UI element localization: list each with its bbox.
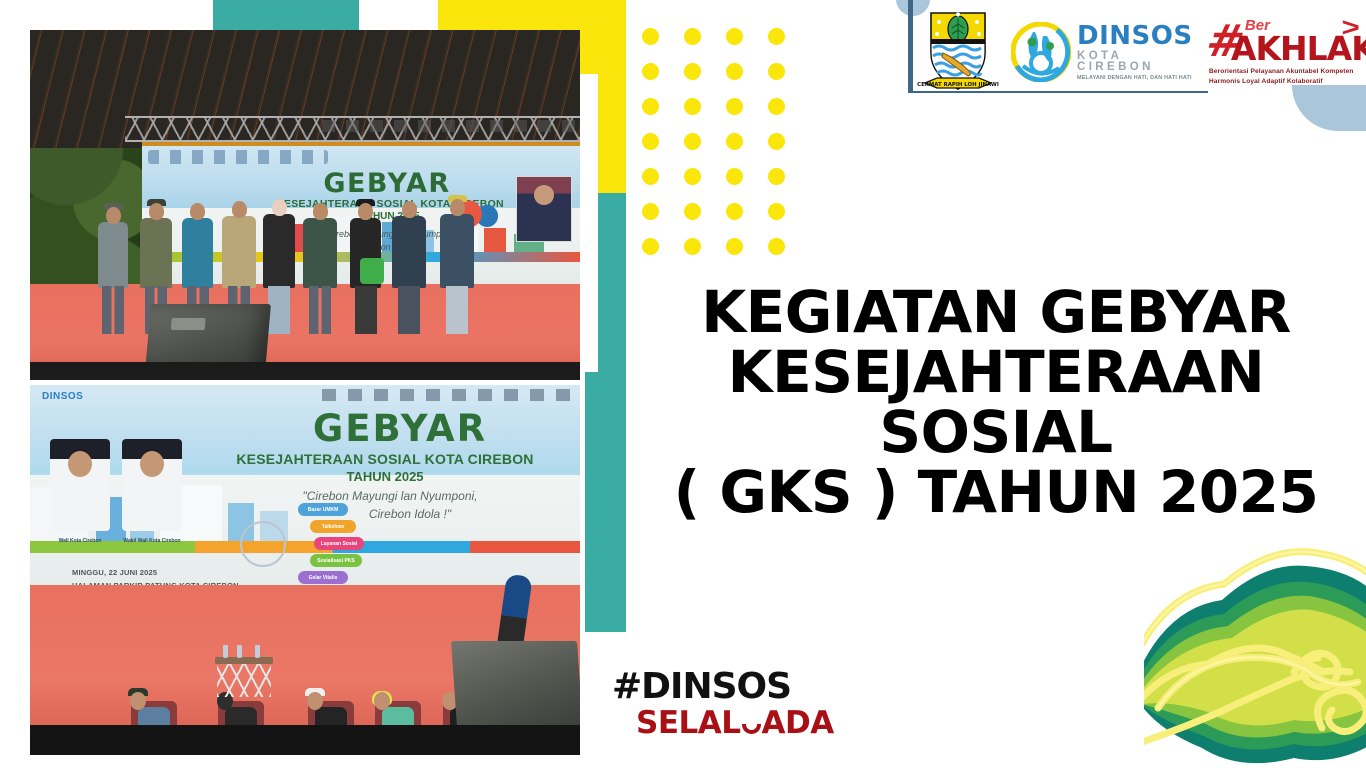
grid-dot [726,133,743,150]
photo2-panelist-head [307,692,323,710]
photo2-water-bottle [237,645,242,658]
photo2-table-top [215,657,273,664]
photo-group-on-stage: GEBYAR KESEJAHTERAAN SOSIAL KOTA CIREBON… [30,30,580,380]
photo2-table-legs [217,664,271,697]
grid-dot [726,28,743,45]
grid-dot [768,203,785,220]
photo2-diagram-node: Talkshow [310,520,356,533]
grid-dot [684,63,701,80]
photo2-banner-activity-diagram: Bazar UMKM Talkshow Layanan Sosial Sosia… [240,503,390,588]
photo1-person-head [232,201,247,218]
photo1-person [98,222,128,288]
photo2-banner-year: TAHUN 2025 [215,469,555,484]
grid-dot [768,28,785,45]
grid-dot [684,238,701,255]
photo1-person-head [358,203,373,220]
smile-u-icon [742,724,761,734]
hashtag-selalu-text: SELAL [636,705,741,741]
photo2-diagram-node: Gelar Vitalis [298,571,348,584]
hashtag-line-1: #DINSOS [612,668,834,706]
grid-dot [726,98,743,115]
photo2-diagram-circle [240,521,286,567]
photo2-banner-title: GEBYAR [285,407,515,450]
photo1-banner-portrait [516,176,572,242]
grid-dot [642,63,659,80]
grid-dot [642,133,659,150]
photo1-person [182,218,213,288]
grid-dot [684,203,701,220]
grid-dot [768,168,785,185]
photo2-stage-monitor-speaker [451,641,580,727]
hashtag-ada-text: ADA [762,705,834,741]
grid-dot [684,98,701,115]
photo2-banner-tagline-line1: "Cirebon Mayungi lan Nyumponi, [240,489,540,503]
photo2-diagram-node: Bazar UMKM [298,503,348,516]
photo2-diagram-node: Layanan Sosial [314,537,364,550]
mega-mendung-cloud-icon [1144,522,1366,768]
grid-dot [642,238,659,255]
photo1-tagline-line1: "Cirebon Mayungi lan Nyumponi, [324,229,455,239]
photo1-person-head [450,199,465,216]
photo1-person-legs [355,286,377,334]
grid-dot [726,63,743,80]
logo-row: CERMAT RAPIH LOH JINAWI [915,8,1360,96]
photo1-person-head [190,203,205,220]
grid-dot [642,28,659,45]
photo2-banner-date: MINGGU, 22 JUNI 2025 [72,568,157,577]
photo1-green-bag [360,258,384,284]
hashtag-line-2: SELALADA [636,706,834,740]
dinsos-tagline: MELAYANI DENGAN HATI, DAN HATI HATI [1077,76,1197,81]
photo1-banner-logo-row [148,150,328,164]
photo1-person [392,216,426,288]
dinsos-logo: DINSOS KOTA CIREBON MELAYANI DENGAN HATI… [1011,22,1197,82]
photo1-sponsor-row [322,120,580,132]
title-line-1: KEGIATAN GEBYAR [701,278,1291,346]
grid-dot [768,63,785,80]
grid-dot [768,133,785,150]
grid-dot [726,203,743,220]
lambang-kota-cirebon-icon: CERMAT RAPIH LOH JINAWI [915,9,1001,95]
title-line-2: KESEJAHTERAAN SOSIAL [728,338,1265,466]
dinsos-subtitle: KOTA CIREBON [1077,51,1197,74]
teal-strip-joint [585,372,626,398]
photo2-water-bottle [255,645,260,658]
berakhlak-logo: # Ber AKHLAK > Berorientasi Pelayanan Ak… [1207,12,1360,92]
emblem-motto-text: CERMAT RAPIH LOH JINAWI [917,82,999,88]
photo1-person-head [272,199,287,216]
page-title: KEGIATAN GEBYAR KESEJAHTERAAN SOSIAL ( G… [626,282,1366,522]
grid-dot [768,98,785,115]
photo2-banner-dinsos-logo: DINSOS [42,391,83,402]
chevron-right-icon: > [1341,12,1359,43]
grid-dot [684,133,701,150]
yellow-dot-grid [642,28,782,256]
photo2-banner-subtitle: KESEJAHTERAAN SOSIAL KOTA CIREBON [215,451,555,467]
photo2-leader-caption: Wakil Wali Kota Cirebon [116,538,188,544]
photo1-person-legs [398,286,420,334]
photo1-person-legs [102,286,124,334]
grid-dot [726,168,743,185]
photo1-person-head [149,203,164,220]
akhlak-values-line2: Harmonis Loyal Adaptif Kolaboratif [1209,78,1323,85]
slide-canvas: GEBYAR KESEJAHTERAAN SOSIAL KOTA CIREBON… [0,0,1366,768]
grid-dot [768,238,785,255]
photo2-panelist-head [130,692,146,710]
dinsos-hashtag-block: #DINSOS SELALADA [612,668,834,740]
grid-dot [642,203,659,220]
photo2-event-banner: DINSOS Wali Kota Cirebon Wakil Wali Kota… [30,385,580,603]
photo1-person-legs [446,286,468,334]
photo2-leader-portrait: Wali Kota Cirebon [50,439,110,531]
grid-dot [684,168,701,185]
teal-lower-strip [585,372,626,632]
grid-dot [642,168,659,185]
photo1-person [303,218,337,288]
photo1-stage-front-edge [30,362,580,380]
grid-dot [642,98,659,115]
teal-vertical-strip [598,193,626,372]
photo2-leader-caption: Wali Kota Cirebon [44,538,116,544]
photo2-banner-sponsor-row [322,389,572,401]
grid-dot [684,28,701,45]
dinsos-mark-icon [1011,22,1071,82]
grid-dot [726,238,743,255]
photo1-person-head [313,203,328,220]
photo2-water-bottle [223,645,228,658]
photo1-person [140,218,172,288]
photo1-person [440,214,474,288]
dinsos-wordmark: DINSOS [1077,23,1197,49]
photo1-person [263,214,295,288]
photo2-panelist-head [374,692,390,710]
photo1-person-legs [309,286,331,334]
yellow-vertical-strip [598,0,626,193]
photo1-person-head [402,201,417,218]
photo2-banner-leaders: Wali Kota Cirebon Wakil Wali Kota Cirebo… [50,439,182,531]
photo1-person [222,216,256,288]
photo1-person-head [106,207,121,224]
dinsos-text-block: DINSOS KOTA CIREBON MELAYANI DENGAN HATI… [1077,23,1197,82]
photo2-leader-portrait: Wakil Wali Kota Cirebon [122,439,182,531]
photo2-diagram-node: Sosialisasi PKS [310,554,362,567]
photo-talkshow-panel: DINSOS Wali Kota Cirebon Wakil Wali Kota… [30,385,580,755]
photo2-stage-front-edge [30,725,580,755]
akhlak-values-line1: Berorientasi Pelayanan Akuntabel Kompete… [1209,68,1354,75]
title-line-3: ( GKS ) TAHUN 2025 [674,458,1319,526]
photo2-coffee-table [215,657,273,697]
photo1-person-legs [268,286,290,334]
